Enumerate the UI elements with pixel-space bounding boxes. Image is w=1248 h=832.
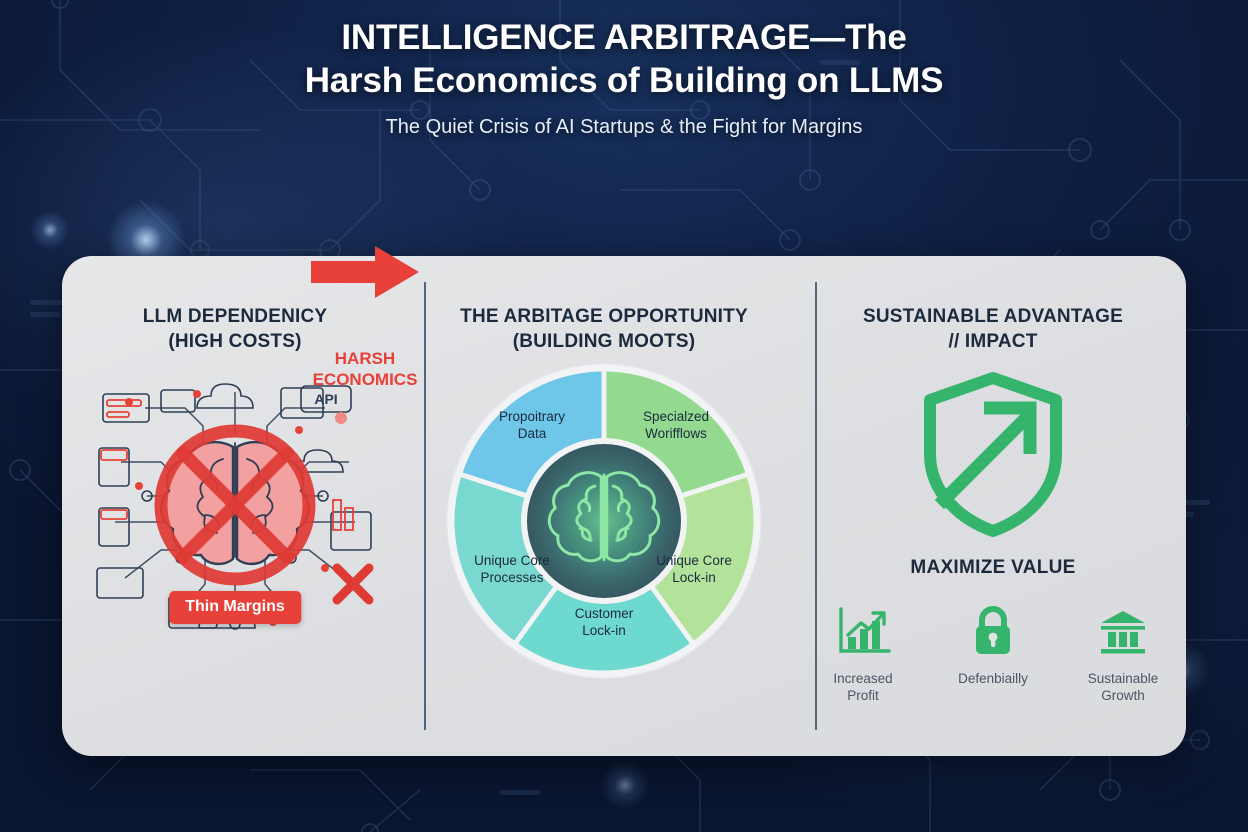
kpi-label-line2: Growth (1075, 687, 1171, 704)
subtitle: The Quiet Crisis of AI Startups & the Fi… (0, 116, 1248, 139)
x-mark-icon (337, 568, 369, 600)
donut-label-propoitrary-data: Propoitrary Data (477, 408, 587, 442)
donut-label-customer-lockin: Customer Lock-in (549, 605, 659, 639)
kpi-label: Defenbiailly (945, 670, 1041, 687)
shield-growth-illustration (800, 368, 1186, 545)
kpi-sustainable-growth: Sustainable Growth (1075, 605, 1171, 704)
donut-label-line2: Data (477, 425, 587, 442)
harsh-economics-transition: HARSH ECONOMICS (300, 244, 430, 390)
title-block: INTELLIGENCE ARBITRAGE—The Harsh Economi… (0, 16, 1248, 139)
column-sustainable-advantage: SUSTAINABLE ADVANTAGE // IMPACT MAXIMIZE… (800, 256, 1186, 756)
column-mid-heading-line1: THE ARBITAGE OPPORTUNITY (422, 304, 786, 329)
kpi-label-line1: Defenbiailly (945, 670, 1041, 687)
thin-margins-badge: Thin Margins (169, 591, 301, 624)
maximize-value-label: MAXIMIZE VALUE (800, 557, 1186, 579)
donut-label-line2: Processes (457, 569, 567, 586)
right-arrow-icon (309, 244, 421, 300)
crossed-out-brain-illustration: API (85, 372, 385, 642)
kpi-row: Increased Profit Defenbiailly (800, 605, 1186, 704)
api-label: API (314, 391, 337, 407)
column-right-heading: SUSTAINABLE ADVANTAGE // IMPACT (800, 304, 1186, 354)
donut-label-unique-core-lockin: Unique Core Lock-in (639, 552, 749, 586)
donut-label-line1: Specialzed (621, 408, 731, 425)
kpi-label-line1: Increased (815, 670, 911, 687)
donut-label-line1: Propoitrary (477, 408, 587, 425)
kpi-defensibility: Defenbiailly (945, 605, 1041, 704)
kpi-label: Sustainable Growth (1075, 670, 1171, 704)
lock-icon (965, 605, 1021, 657)
donut-label-line1: Unique Core (457, 552, 567, 569)
column-right-heading-line1: SUSTAINABLE ADVANTAGE (814, 304, 1172, 329)
donut-label-line1: Customer (549, 605, 659, 622)
column-arbitrage-opportunity: THE ARBITAGE OPPORTUNITY (BUILDING MOOTS… (408, 256, 800, 756)
donut-label-specialzed-workflows: Specialzed Worifflows (621, 408, 731, 442)
kpi-label-line1: Sustainable (1075, 670, 1171, 687)
shield-growth-icon (918, 368, 1068, 540)
donut-label-line2: Lock-in (549, 622, 659, 639)
harsh-economics-line2: ECONOMICS (300, 369, 430, 390)
harsh-economics-label: HARSH ECONOMICS (300, 348, 430, 390)
column-right-heading-line2: // IMPACT (814, 329, 1172, 354)
infographic-canvas: INTELLIGENCE ARBITRAGE—The Harsh Economi… (0, 0, 1248, 832)
column-mid-heading: THE ARBITAGE OPPORTUNITY (BUILDING MOOTS… (408, 304, 800, 354)
donut-label-line2: Worifflows (621, 425, 731, 442)
main-panel: LLM DEPENDENICY (HIGH COSTS) (62, 256, 1186, 756)
kpi-label: Increased Profit (815, 670, 911, 704)
bank-icon (1095, 605, 1151, 657)
donut-label-line2: Lock-in (639, 569, 749, 586)
kpi-increased-profit: Increased Profit (815, 605, 911, 704)
title-line-1: INTELLIGENCE ARBITRAGE—The (0, 16, 1248, 59)
donut-label-unique-core-processes: Unique Core Processes (457, 552, 567, 586)
title-line-2: Harsh Economics of Building on LLMS (0, 59, 1248, 102)
kpi-label-line2: Profit (815, 687, 911, 704)
moat-donut-chart: Propoitrary Data Specialzed Worifflows U… (443, 360, 765, 682)
harsh-economics-line1: HARSH (300, 348, 430, 369)
donut-label-line1: Unique Core (639, 552, 749, 569)
background-glow (30, 210, 70, 250)
growth-chart-icon (835, 605, 891, 657)
background-glow (600, 760, 650, 810)
column-mid-heading-line2: (BUILDING MOOTS) (422, 329, 786, 354)
